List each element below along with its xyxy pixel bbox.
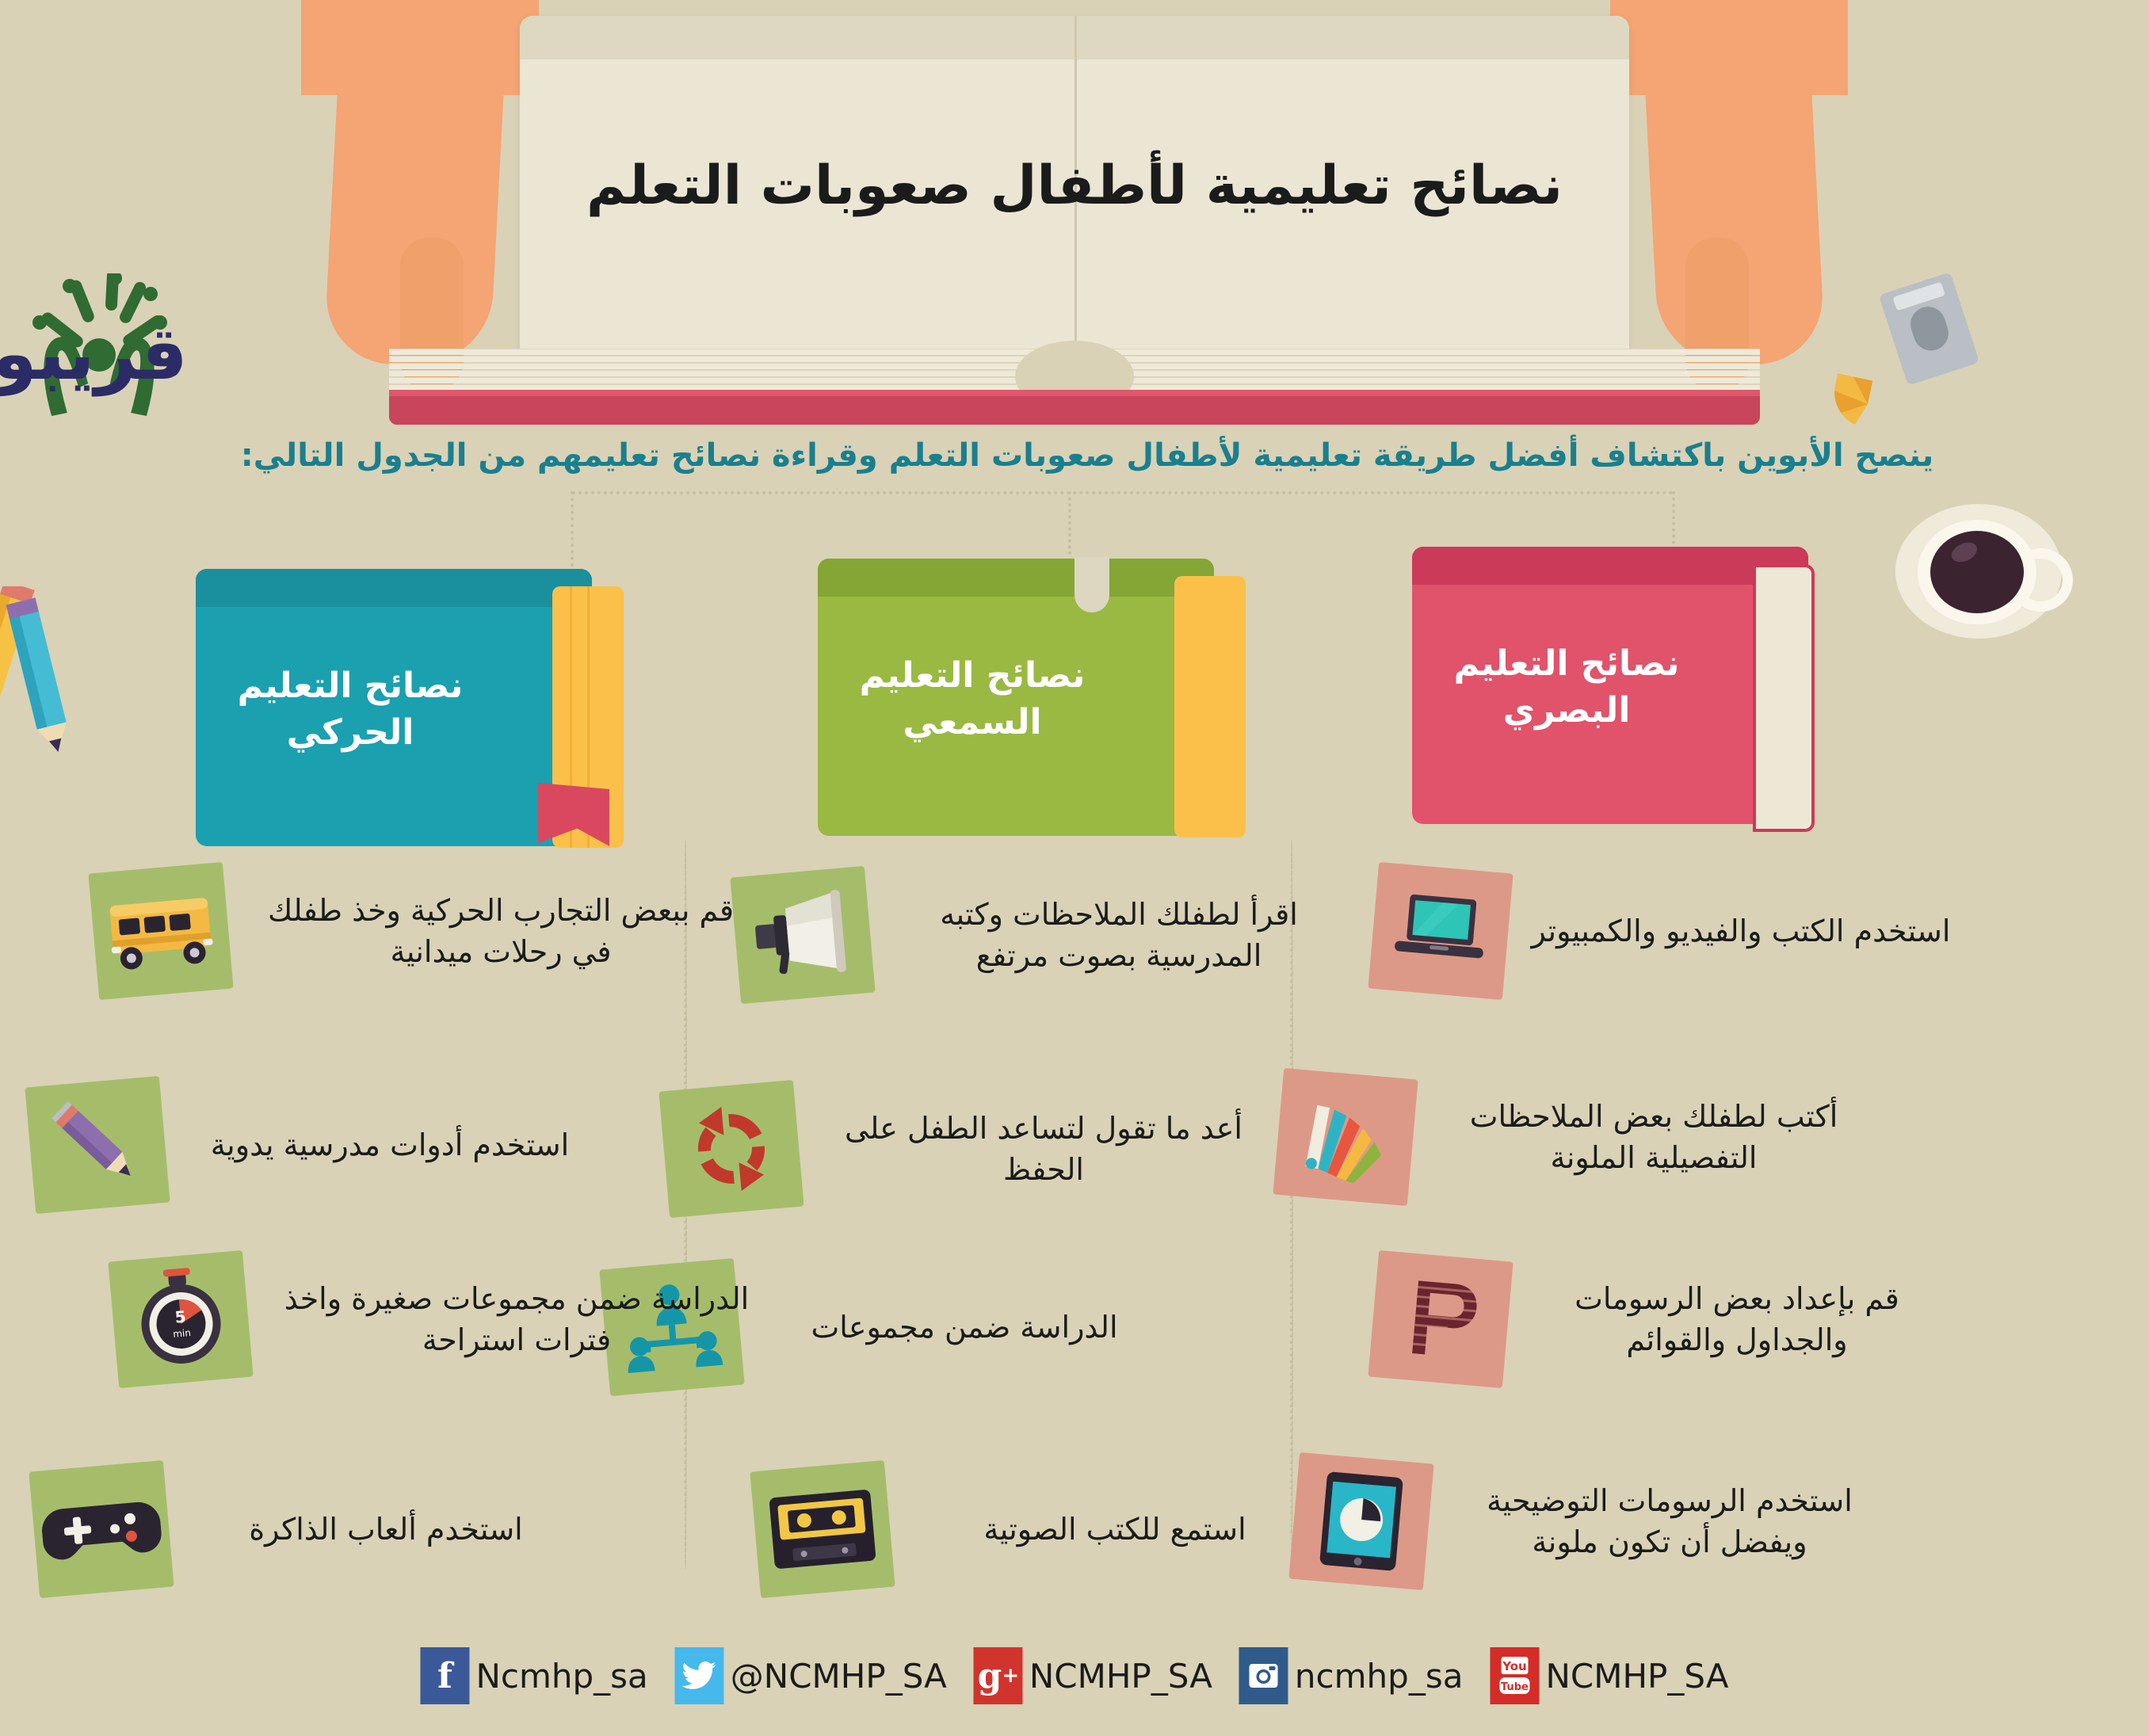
book-cover-base <box>389 396 1760 425</box>
book-header-kinetic[interactable]: نصائح التعليم الحركي <box>196 569 592 846</box>
page-title: نصائح تعليمية لأطفال صعوبات التعلم <box>520 155 1629 217</box>
tip-text: قم ببعض التجارب الحركية وخذ طفلك في رحلا… <box>247 890 754 973</box>
connector-middle <box>1068 491 1071 555</box>
tip-row-auditory-4[interactable]: استمع للكتب الصوتية <box>521 1466 1321 1593</box>
coffee-cup-icon <box>1895 499 2078 642</box>
book-label-visual: نصائح التعليم البصري <box>1412 640 1721 734</box>
laptop-icon <box>1389 883 1491 979</box>
book-topband <box>818 559 1214 597</box>
svg-text:min: min <box>173 1327 192 1340</box>
svg-text:5: 5 <box>174 1307 187 1326</box>
connector-horizontal <box>572 491 1674 494</box>
pencil-icon <box>42 1089 154 1201</box>
tile-repeat-arrows <box>658 1080 803 1218</box>
social-handle: @NCMHP_SA <box>731 1657 947 1696</box>
book-header-auditory[interactable]: نصائح التعليم السمعي <box>818 559 1214 836</box>
tile-laptop <box>1368 862 1513 1000</box>
tip-row-visual-3[interactable]: قم بإعداد بعض الرسومات والجداول والقوائم <box>1155 1256 1947 1383</box>
social-item-instagram[interactable]: ncmhp_sa <box>1239 1647 1464 1704</box>
facebook-icon[interactable]: f <box>420 1647 469 1704</box>
book-topband <box>1412 547 1808 585</box>
svg-text:You: You <box>1502 1659 1526 1673</box>
tip-text: أعد ما تقول لتساعد الطفل على الحفظ <box>818 1108 1269 1191</box>
tablet-chart-icon <box>1313 1466 1410 1576</box>
tip-text: استخدم ألعاب الذاكرة <box>188 1509 584 1550</box>
tile-pencil <box>25 1076 170 1214</box>
tip-text: الدراسة ضمن مجموعات <box>758 1307 1170 1348</box>
megaphone-icon <box>747 887 857 983</box>
book-notch <box>1074 557 1109 612</box>
tip-row-kinetic-2[interactable]: استخدم أدوات مدرسية يدوية <box>0 1082 596 1208</box>
book-page-edge <box>1174 576 1246 837</box>
tile-timer: 5 min <box>108 1250 253 1388</box>
social-item-facebook[interactable]: f Ncmhp_sa <box>420 1647 647 1704</box>
tile-gamepad <box>29 1460 174 1598</box>
social-item-twitter[interactable]: @NCMHP_SA <box>675 1647 947 1704</box>
tip-text: استخدم أدوات مدرسية يدوية <box>184 1124 596 1166</box>
tile-school-bus <box>88 862 233 1000</box>
gamepad-icon <box>39 1485 164 1574</box>
twitter-icon[interactable] <box>675 1647 724 1704</box>
book-topband <box>196 569 592 607</box>
pencils-icon <box>0 586 128 776</box>
tip-text: الدراسة ضمن مجموعات صغيرة واخذ فترات است… <box>267 1278 766 1361</box>
brand-name: قريبو <box>0 311 188 396</box>
book-label-auditory: نصائح التعليم السمعي <box>818 652 1127 746</box>
social-item-youtube[interactable]: You Tube NCMHP_SA <box>1490 1647 1728 1704</box>
page-subtitle: ينصح الأبوين باكتشاف أفضل طريقة تعليمية … <box>223 437 1951 474</box>
tip-row-kinetic-3[interactable]: الدراسة ضمن مجموعات صغيرة واخذ فترات است… <box>0 1256 766 1383</box>
letter-p-icon <box>1389 1268 1492 1371</box>
cassette-tape-icon <box>763 1481 881 1578</box>
social-item-googleplus[interactable]: g+ NCMHP_SA <box>974 1647 1212 1704</box>
book-header-visual[interactable]: نصائح التعليم البصري <box>1412 547 1808 824</box>
tip-text: استمع للكتب الصوتية <box>909 1509 1321 1550</box>
social-footer: f Ncmhp_sa @NCMHP_SA g+ NCMHP_SA ncmhp_s… <box>420 1647 1728 1704</box>
tile-letter-p <box>1368 1250 1513 1388</box>
social-handle: NCMHP_SA <box>1029 1657 1212 1696</box>
social-handle: NCMHP_SA <box>1545 1657 1728 1696</box>
tip-text: اقرأ لطفلك الملاحظات وكتبه المدرسية بصوت… <box>889 894 1349 977</box>
book-page-edge <box>1753 564 1815 832</box>
social-handle: Ncmhp_sa <box>475 1657 647 1696</box>
color-swatch-fan-icon <box>1290 1086 1401 1188</box>
tip-text: استخدم الرسومات التوضيحية ويفضل أن تكون … <box>1448 1480 1891 1563</box>
tip-row-kinetic-1[interactable]: قم ببعض التجارب الحركية وخذ طفلك في رحلا… <box>0 868 754 994</box>
google-plus-icon[interactable]: g+ <box>974 1647 1023 1704</box>
tile-cassette <box>750 1460 895 1598</box>
infographic-canvas: نصائح تعليمية لأطفال صعوبات التعلم قريبو… <box>0 0 2149 1736</box>
svg-text:Tube: Tube <box>1501 1681 1529 1693</box>
tile-color-swatch <box>1273 1068 1418 1206</box>
tip-text: قم بإعداد بعض الرسومات والجداول والقوائم <box>1527 1278 1947 1361</box>
youtube-icon[interactable]: You Tube <box>1490 1647 1539 1704</box>
book-label-kinetic: نصائح التعليم الحركي <box>196 662 505 757</box>
tip-row-kinetic-4[interactable]: استخدم ألعاب الذاكرة <box>0 1466 584 1593</box>
tip-text: استخدم الكتب والفيديو والكمبيوتر <box>1527 910 1955 952</box>
school-bus-icon <box>101 883 219 979</box>
social-handle: ncmhp_sa <box>1295 1657 1464 1696</box>
repeat-arrows-icon <box>680 1097 783 1200</box>
connector-left <box>571 491 574 567</box>
timer-icon: 5 min <box>125 1265 237 1375</box>
brand-logo: قريبو <box>17 273 334 424</box>
instagram-icon[interactable] <box>1239 1647 1288 1704</box>
tip-text: أكتب لطفلك بعض الملاحظات التفصيلية الملو… <box>1432 1096 1876 1179</box>
